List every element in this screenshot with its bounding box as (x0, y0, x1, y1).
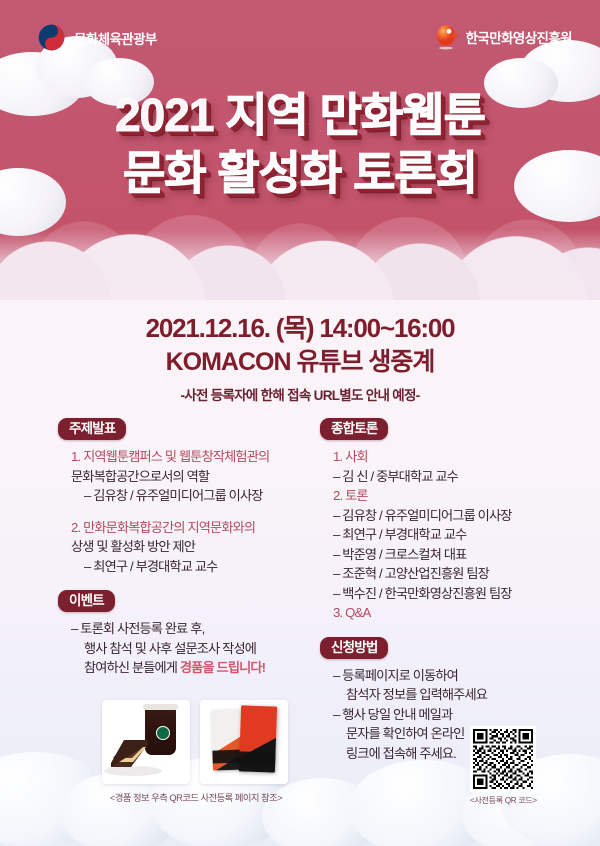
presentation-list: 1. 지역웹툰캠퍼스 및 웹툰창작체험관의문화복합공간으로서의 역할– 김유창 … (58, 447, 316, 576)
list-item: 2. 토론 (320, 486, 570, 506)
list-item: 행사 참석 및 사후 설문조사 작성에 (58, 639, 316, 659)
event-list: – 토론회 사전등록 완료 후,행사 참석 및 사후 설문조사 작성에참여하신 … (58, 619, 316, 678)
qr-caption: <사전등록 QR 코드> (470, 794, 536, 806)
highlight-text: 경품을 드립니다! (180, 660, 265, 675)
prize-caption: <경품 정보 우측 QR코드 사전등록 페이지 참조> (46, 790, 346, 804)
comic-books-prize-image (200, 700, 288, 784)
list-item (58, 506, 316, 518)
list-item: 참여하신 분들에게 경품을 드립니다! (58, 658, 316, 678)
poster-title: 2021 지역 만화웹툰 문화 활성화 토론회 (0, 86, 600, 202)
prize-images (102, 700, 302, 784)
right-column: 종합토론 1. 사회– 김 신 / 중부대학교 교수2. 토론– 김유창 / 유… (320, 418, 570, 763)
list-item: 참석자 정보를 입력해주세요 (320, 685, 570, 705)
list-item: 3. Q&A (320, 603, 570, 623)
mcst-logo-label: 문화체육관광부 (74, 28, 157, 48)
title-line-2: 문화 활성화 토론회 (0, 144, 600, 202)
komacon-bird-icon (436, 24, 459, 50)
poster-header: 문화체육관광부 한국만화영상진흥원 (0, 22, 600, 62)
discussion-list: 1. 사회– 김 신 / 중부대학교 교수2. 토론– 김유창 / 유주얼미디어… (320, 447, 570, 623)
event-note: -사전 등록자에 한해 접속 URL별도 안내 예정- (0, 384, 600, 404)
registration-qr-block[interactable]: <사전등록 QR 코드> (470, 726, 536, 806)
list-item: – 행사 당일 안내 메일과 (320, 705, 570, 725)
starbucks-logo-icon (156, 726, 170, 740)
presentation-badge: 주제발표 (58, 418, 126, 440)
taegeuk-icon (38, 24, 65, 51)
list-item: – 최연구 / 부경대학교 교수 (58, 557, 316, 577)
komacon-logo-label: 한국만화영상진흥원 (466, 27, 572, 47)
list-item: 문화복합공간으로서의 역할 (58, 467, 316, 487)
list-item: – 김 신 / 중부대학교 교수 (320, 467, 570, 487)
mcst-logo: 문화체육관광부 (38, 24, 157, 51)
event-badge: 이벤트 (58, 590, 115, 612)
event-poster: 문화체육관광부 한국만화영상진흥원 2021 지역 만화웹툰 (0, 0, 600, 846)
event-datetime: 2021.12.16. (목) 14:00~16:00 (0, 312, 600, 344)
event-channel: KOMACON 유튜브 생중계 (0, 346, 600, 378)
list-item: 1. 지역웹툰캠퍼스 및 웹툰창작체험관의 (58, 447, 316, 467)
list-item: 1. 사회 (320, 447, 570, 467)
discussion-badge: 종합토론 (320, 418, 388, 440)
section-presentation: 주제발표 1. 지역웹툰캠퍼스 및 웹툰창작체험관의문화복합공간으로서의 역할–… (58, 418, 316, 576)
list-item: – 등록페이지로 이동하여 (320, 666, 570, 686)
list-item: – 백수진 / 한국만화영상진흥원 팀장 (320, 584, 570, 604)
list-item: 2. 만화문화복합공간의 지역문화와의 (58, 518, 316, 538)
list-item: – 김유창 / 유주얼미디어그룹 이사장 (320, 506, 570, 526)
komacon-logo: 한국만화영상진흥원 (436, 24, 572, 50)
list-item: 상생 및 활성화 방안 제안 (58, 537, 316, 557)
list-item: – 최연구 / 부경대학교 교수 (320, 525, 570, 545)
list-item: – 조준혁 / 고양산업진흥원 팀장 (320, 564, 570, 584)
howto-badge: 신청방법 (320, 637, 388, 659)
coffee-cake-prize-image (102, 700, 190, 784)
qr-code-icon[interactable] (473, 729, 533, 789)
section-discussion: 종합토론 1. 사회– 김 신 / 중부대학교 교수2. 토론– 김유창 / 유… (320, 418, 570, 623)
list-item: – 김유창 / 유주얼미디어그룹 이사장 (58, 486, 316, 506)
list-item: – 토론회 사전등록 완료 후, (58, 619, 316, 639)
registration-qr-code[interactable] (470, 726, 536, 792)
left-column: 주제발표 1. 지역웹툰캠퍼스 및 웹툰창작체험관의문화복합공간으로서의 역할–… (58, 418, 316, 678)
section-event: 이벤트 – 토론회 사전등록 완료 후,행사 참석 및 사후 설문조사 작성에참… (58, 590, 316, 678)
cake-slice-icon (110, 737, 150, 770)
comic-book-2 (239, 705, 277, 772)
list-item: – 박준영 / 크로스컬쳐 대표 (320, 545, 570, 565)
schedule-block: 2021.12.16. (목) 14:00~16:00 KOMACON 유튜브 … (0, 312, 600, 404)
title-line-1: 2021 지역 만화웹툰 (0, 86, 600, 144)
